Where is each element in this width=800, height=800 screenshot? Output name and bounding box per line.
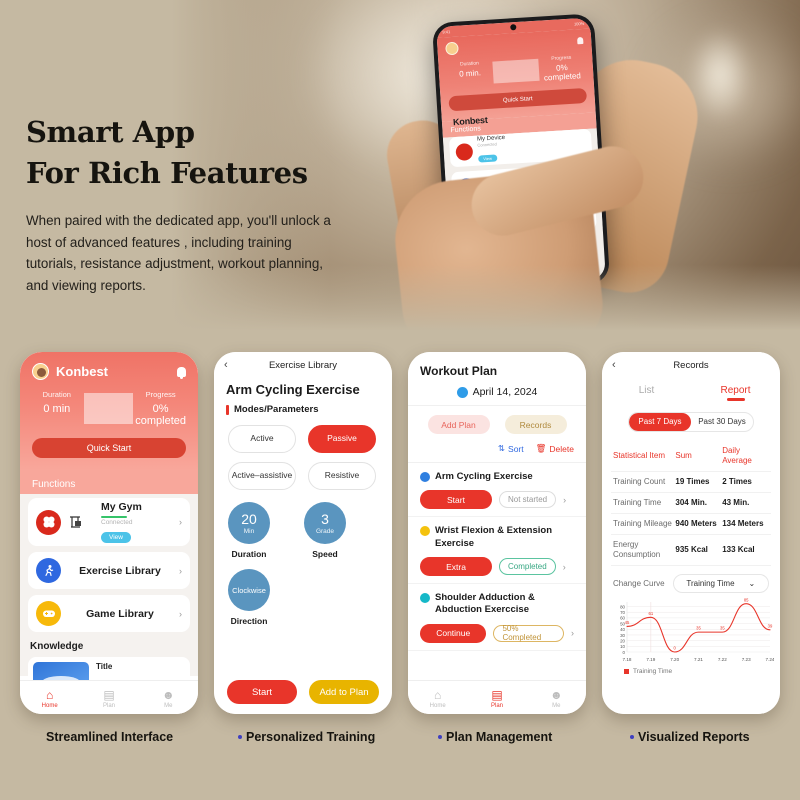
connection-indicator (101, 516, 127, 518)
modes-section-label: Modes/Parameters (234, 404, 318, 415)
svg-text:80: 80 (620, 604, 625, 609)
phone-mockup-workout-plan: Workout Plan April 14, 2024 Add Plan Rec… (408, 352, 586, 714)
bullet-icon (438, 735, 442, 739)
gym-equipment-icon (68, 514, 94, 530)
caption-label: Personalized Training (246, 730, 375, 744)
chevron-right-icon: › (179, 517, 182, 527)
cell-avg: 134 Meters (722, 519, 769, 529)
duration-value: 20 (241, 511, 257, 527)
chevron-right-icon: › (179, 566, 182, 576)
list-item[interactable]: Wrist Flexion & Extension Exercise Extra… (408, 517, 586, 584)
hero-status-battery: 100% (574, 21, 585, 27)
col-daily-average: Daily Average (722, 446, 769, 466)
feature-captions: Streamlined Interface Personalized Train… (0, 730, 800, 762)
home-icon: ⌂ (408, 689, 467, 702)
bullet-icon (238, 735, 242, 739)
hero-status-time: 9:41 (442, 29, 450, 34)
hero-phone-header: Duration 0 min. Progress 0% completed Qu… (437, 29, 596, 122)
clock-icon (457, 387, 468, 398)
phone4-navbar: ‹ Records (602, 352, 780, 378)
tab-home[interactable]: ⌂ Home (20, 689, 79, 709)
delete-button[interactable]: 🗑 Delete (536, 443, 574, 454)
mode-option-passive[interactable]: Passive (308, 425, 376, 453)
phone-mockup-records: ‹ Records List Report Past 7 Days Past 3… (602, 352, 780, 714)
hero-avatar (445, 42, 459, 56)
exercise-library-label: Exercise Library (68, 565, 172, 577)
phone1-stats: Duration 0 min Progress 0% completed (32, 390, 186, 427)
divider (492, 59, 539, 84)
hero-section: 9:41 100% Duration 0 min. Progress (0, 0, 800, 345)
mode-option-resistive[interactable]: Resistive (308, 462, 376, 490)
plan-item-action-button[interactable]: Extra (420, 557, 492, 576)
duration-unit: Min (244, 528, 254, 535)
date-selector[interactable]: April 14, 2024 (408, 378, 586, 406)
delete-label: Delete (549, 444, 574, 454)
list-item-my-gym[interactable]: My Gym Connected View › (28, 498, 190, 546)
svg-text:40: 40 (620, 627, 625, 632)
active-tab-underline (727, 398, 745, 401)
svg-text:30: 30 (620, 632, 625, 637)
param-direction[interactable]: Clockwise Direction (228, 569, 270, 626)
hero-bokeh-3 (690, 30, 750, 120)
cell-item: Training Time (613, 498, 675, 508)
phone-showcase-row: Konbest Duration 0 min Progress 0% compl… (0, 352, 800, 722)
cell-avg: 2 Times (722, 477, 769, 487)
legend-label: Training Time (633, 668, 672, 675)
chevron-right-icon: › (563, 562, 566, 572)
phone4-nav-title: Records (602, 360, 780, 371)
phone-mockup-exercise-library: ‹ Exercise Library Arm Cycling Exercise … (214, 352, 392, 714)
phone2-navbar: ‹ Exercise Library (214, 352, 392, 378)
hero-duration-value: 0 min. (447, 68, 493, 80)
tab-me-label: Me (139, 703, 198, 709)
segment-past-7-days[interactable]: Past 7 Days (629, 413, 691, 431)
svg-text:45: 45 (625, 620, 630, 625)
cell-sum: 935 Kcal (675, 545, 722, 555)
tab-list-label: List (639, 385, 655, 396)
headline-line-1: Smart App (26, 115, 195, 149)
svg-text:7.21: 7.21 (694, 657, 703, 662)
sort-button[interactable]: ⇅ Sort (498, 443, 524, 454)
svg-text:61: 61 (648, 610, 653, 615)
tab-home[interactable]: ⌂ Home (408, 689, 467, 709)
table-header-row: Statistical Item Sum Daily Average (611, 441, 771, 472)
cell-avg: 43 Min. (722, 498, 769, 508)
caption-streamlined-interface: Streamlined Interface (46, 730, 173, 744)
svg-text:70: 70 (620, 610, 625, 615)
phone2-nav-title: Exercise Library (214, 360, 392, 371)
col-sum: Sum (675, 451, 722, 461)
tab-home-label: Home (20, 703, 79, 709)
tab-me[interactable]: ☻ Me (139, 689, 198, 709)
caption-plan-management: Plan Management (438, 730, 552, 744)
date-value: April 14, 2024 (473, 386, 538, 398)
speed-caption: Speed (304, 549, 346, 559)
svg-text:20: 20 (620, 638, 625, 643)
game-library-label: Game Library (68, 608, 172, 620)
person-icon: ☻ (139, 689, 198, 702)
tab-home-label: Home (408, 703, 467, 709)
grid-icon (455, 142, 473, 160)
exercise-title: Arm Cycling Exercise (214, 378, 392, 397)
progress-value: 0% completed (135, 403, 186, 427)
svg-text:7.19: 7.19 (646, 657, 655, 662)
hero-stats: Duration 0 min. Progress 0% completed (446, 54, 585, 88)
phone1-header: Konbest Duration 0 min Progress 0% compl… (20, 352, 198, 470)
tab-plan-label: Plan (468, 703, 527, 709)
plan-item-title: Arm Cycling Exercise (435, 471, 533, 483)
records-tabs: List Report (602, 378, 780, 405)
table-row: Energy Consumption 935 Kcal 133 Kcal (611, 535, 771, 566)
tab-plan[interactable]: ▤ Plan (80, 689, 139, 709)
caption-personalized-training: Personalized Training (238, 730, 375, 744)
phone4-screen: ‹ Records List Report Past 7 Days Past 3… (602, 352, 780, 714)
hero-description: When paired with the dedicated app, you'… (26, 210, 331, 297)
tab-report-label: Report (720, 385, 750, 396)
view-button[interactable]: View (101, 532, 131, 543)
cell-item: Training Count (613, 477, 675, 487)
phone3-tabbar: ⌂ Home ▤ Plan ☻ Me (408, 680, 586, 714)
duration-label: Duration (32, 390, 82, 399)
caption-label: Streamlined Interface (46, 730, 173, 744)
hero-view-button[interactable]: View (478, 154, 497, 162)
phone-mockup-home: Konbest Duration 0 min Progress 0% compl… (20, 352, 198, 714)
user-name: Konbest (56, 364, 170, 379)
tab-plan-label: Plan (80, 703, 139, 709)
cell-sum: 940 Meters (675, 519, 722, 529)
phone2-screen: ‹ Exercise Library Arm Cycling Exercise … (214, 352, 392, 714)
status-badge: 50% Completed (493, 625, 564, 642)
parameter-controls: 20 Min Duration 3 Grade Speed (214, 490, 392, 626)
gamepad-icon (36, 601, 61, 626)
functions-label: Functions (20, 470, 198, 494)
tab-me[interactable]: ☻ Me (527, 689, 586, 709)
change-curve-select[interactable]: Training Time ⌄ (673, 574, 769, 593)
status-dot-icon (420, 472, 430, 482)
divider (84, 393, 134, 424)
list-item[interactable]: Arm Cycling Exercise Start Not started › (408, 463, 586, 517)
legend-color-swatch (624, 669, 629, 674)
grid-icon (36, 510, 61, 535)
phone1-screen: Konbest Duration 0 min Progress 0% compl… (20, 352, 198, 714)
runner-icon (36, 558, 61, 583)
plan-icon: ▤ (468, 689, 527, 702)
svg-text:7.18: 7.18 (623, 657, 632, 662)
plan-item-title: Shoulder Adduction & Abduction Exerccise (435, 592, 574, 617)
workout-plan-title: Workout Plan (408, 352, 586, 378)
trash-icon: 🗑 (536, 443, 547, 454)
add-plan-button[interactable]: Add Plan (428, 415, 490, 434)
table-row: Training Time 304 Min. 43 Min. (611, 493, 771, 514)
tab-plan[interactable]: ▤ Plan (468, 689, 527, 709)
plan-item-action-button[interactable]: Start (420, 490, 492, 509)
status-dot-icon (420, 526, 430, 536)
knowledge-section-label: Knowledge (28, 638, 190, 657)
chevron-right-icon: › (563, 495, 566, 505)
tab-list[interactable]: List (602, 385, 691, 405)
start-button[interactable]: Start (227, 680, 297, 704)
status-badge: Not started (499, 491, 556, 508)
bullet-icon (630, 735, 634, 739)
speed-unit: Grade (316, 528, 334, 535)
page-title: Smart App For Rich Features (26, 112, 356, 194)
cell-sum: 304 Min. (675, 498, 722, 508)
table-row: Training Mileage 940 Meters 134 Meters (611, 514, 771, 535)
caption-label: Plan Management (446, 730, 552, 744)
chart-canvas: 0102030405060708045610353585397.187.197.… (608, 597, 774, 665)
phone2-action-bar: Start Add to Plan (214, 680, 392, 704)
svg-text:7.23: 7.23 (742, 657, 751, 662)
headline-line-2: For Rich Features (26, 156, 308, 190)
bell-icon[interactable] (577, 37, 583, 44)
chevron-right-icon: › (571, 628, 574, 638)
tab-report[interactable]: Report (691, 385, 780, 405)
chevron-right-icon: › (179, 609, 182, 619)
status-dot-icon (420, 593, 430, 603)
svg-text:7.24: 7.24 (766, 657, 774, 662)
segment-past-30-days[interactable]: Past 30 Days (691, 413, 753, 431)
phone1-function-list: My Gym Connected View › Exercise Library… (20, 494, 198, 676)
my-gym-title: My Gym (101, 501, 172, 513)
plan-item-action-button[interactable]: Continue (420, 624, 486, 643)
home-icon: ⌂ (20, 689, 79, 702)
hero-progress-value: 0% completed (539, 62, 586, 83)
range-segmented-control: Past 7 Days Past 30 Days (628, 412, 754, 432)
table-row: Training Count 19 Times 2 Times (611, 472, 771, 493)
mode-options: Active Passive Active–assistive Resistiv… (214, 415, 392, 490)
caption-label: Visualized Reports (638, 730, 750, 744)
progress-label: Progress (135, 390, 186, 399)
svg-text:35: 35 (696, 625, 701, 630)
duration-caption: Duration (228, 549, 270, 559)
direction-value: Clockwise (232, 586, 266, 595)
change-curve-control: Change Curve Training Time ⌄ (602, 566, 780, 593)
phone3-toolbar: ⇅ Sort 🗑 Delete (408, 443, 586, 463)
cell-item: Energy Consumption (613, 540, 675, 560)
cell-avg: 133 Kcal (722, 545, 769, 555)
add-to-plan-button[interactable]: Add to Plan (309, 680, 379, 704)
col-statistical-item: Statistical Item (613, 451, 675, 461)
direction-caption: Direction (228, 616, 270, 626)
phone3-screen: Workout Plan April 14, 2024 Add Plan Rec… (408, 352, 586, 714)
modes-section-header: Modes/Parameters (214, 397, 392, 415)
records-button[interactable]: Records (505, 415, 567, 434)
tab-me-label: Me (527, 703, 586, 709)
duration-value: 0 min (32, 403, 82, 415)
svg-text:10: 10 (620, 644, 625, 649)
caption-visualized-reports: Visualized Reports (630, 730, 750, 744)
avatar[interactable] (32, 363, 49, 380)
cell-sum: 19 Times (675, 477, 722, 487)
phone1-tabbar: ⌂ Home ▤ Plan ☻ Me (20, 680, 198, 714)
training-chart: 0102030405060708045610353585397.187.197.… (602, 593, 780, 670)
status-badge: Completed (499, 558, 556, 575)
svg-text:85: 85 (744, 597, 749, 602)
speed-value: 3 (321, 511, 329, 527)
svg-text:7.20: 7.20 (670, 657, 679, 662)
sort-icon: ⇅ (498, 443, 505, 454)
svg-text:35: 35 (720, 625, 725, 630)
list-item[interactable]: Shoulder Adduction & Abduction Exerccise… (408, 584, 586, 651)
cell-item: Training Mileage (613, 519, 675, 529)
svg-text:0: 0 (623, 649, 626, 654)
my-gym-status: Connected (101, 519, 172, 526)
bell-icon[interactable] (177, 367, 186, 377)
section-marker (226, 405, 229, 415)
mode-option-active-assistive[interactable]: Active–assistive (228, 462, 296, 490)
param-speed[interactable]: 3 Grade Speed (304, 502, 346, 559)
plan-icon: ▤ (80, 689, 139, 702)
chevron-down-icon: ⌄ (749, 579, 756, 588)
list-item-game-library[interactable]: Game Library › (28, 595, 190, 632)
list-item-exercise-library[interactable]: Exercise Library › (28, 552, 190, 589)
param-duration[interactable]: 20 Min Duration (228, 502, 270, 559)
svg-text:7.22: 7.22 (718, 657, 727, 662)
svg-text:39: 39 (768, 623, 773, 628)
person-icon: ☻ (527, 689, 586, 702)
phone3-actions: Add Plan Records (408, 406, 586, 443)
plan-item-title: Wrist Flexion & Extension Exercise (435, 525, 574, 550)
sort-label: Sort (508, 444, 524, 454)
change-curve-label: Change Curve (613, 579, 665, 588)
hero-quick-start-button[interactable]: Quick Start (448, 88, 587, 111)
quick-start-button[interactable]: Quick Start (32, 438, 186, 458)
change-curve-value: Training Time (686, 579, 734, 588)
mode-option-active[interactable]: Active (228, 425, 296, 453)
statistics-table: Statistical Item Sum Daily Average Train… (602, 441, 780, 566)
